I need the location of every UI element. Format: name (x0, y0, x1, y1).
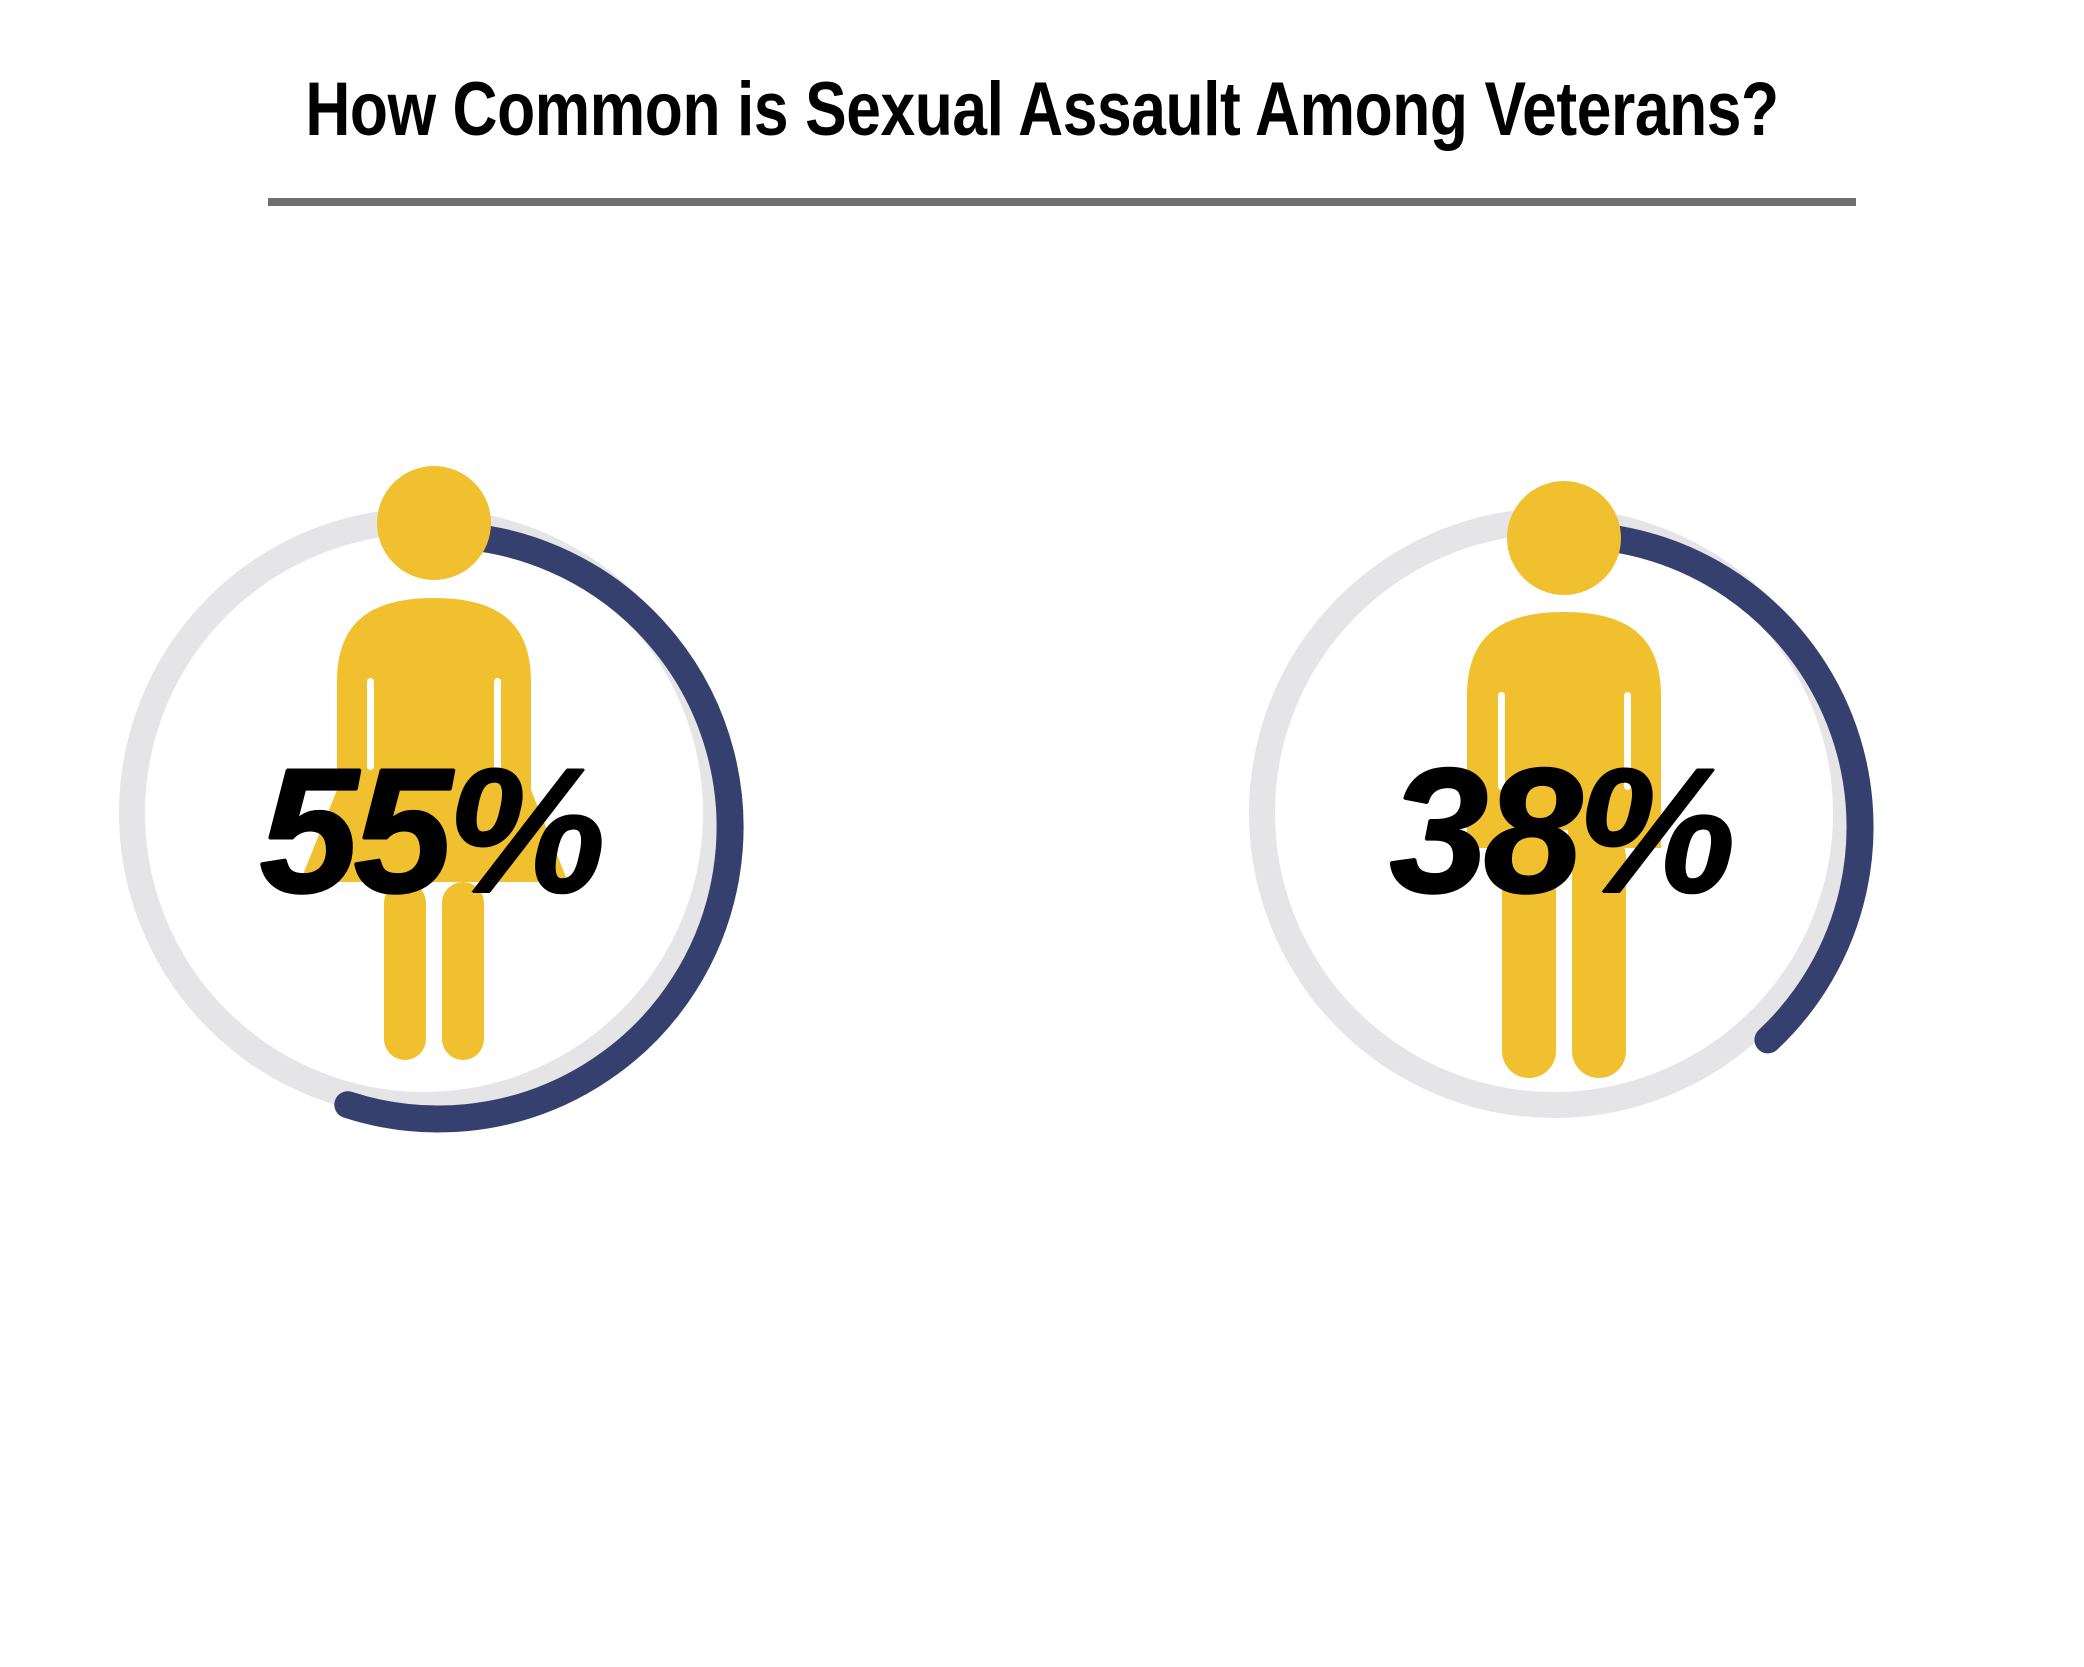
header: How Common is Sexual Assault Among Veter… (0, 0, 2084, 230)
gauge-chart-row: 55% (0, 430, 2084, 1230)
gauge-male-veterans: 38% (1172, 430, 1952, 1220)
male-figure-icon (1467, 481, 1661, 1078)
gauge-male-svg (1172, 430, 1952, 1220)
gauge-female-veterans: 55% (42, 430, 822, 1220)
title-divider-rule (268, 198, 1856, 206)
gauge-female-svg (42, 430, 822, 1220)
page-title: How Common is Sexual Assault Among Veter… (188, 72, 1897, 148)
